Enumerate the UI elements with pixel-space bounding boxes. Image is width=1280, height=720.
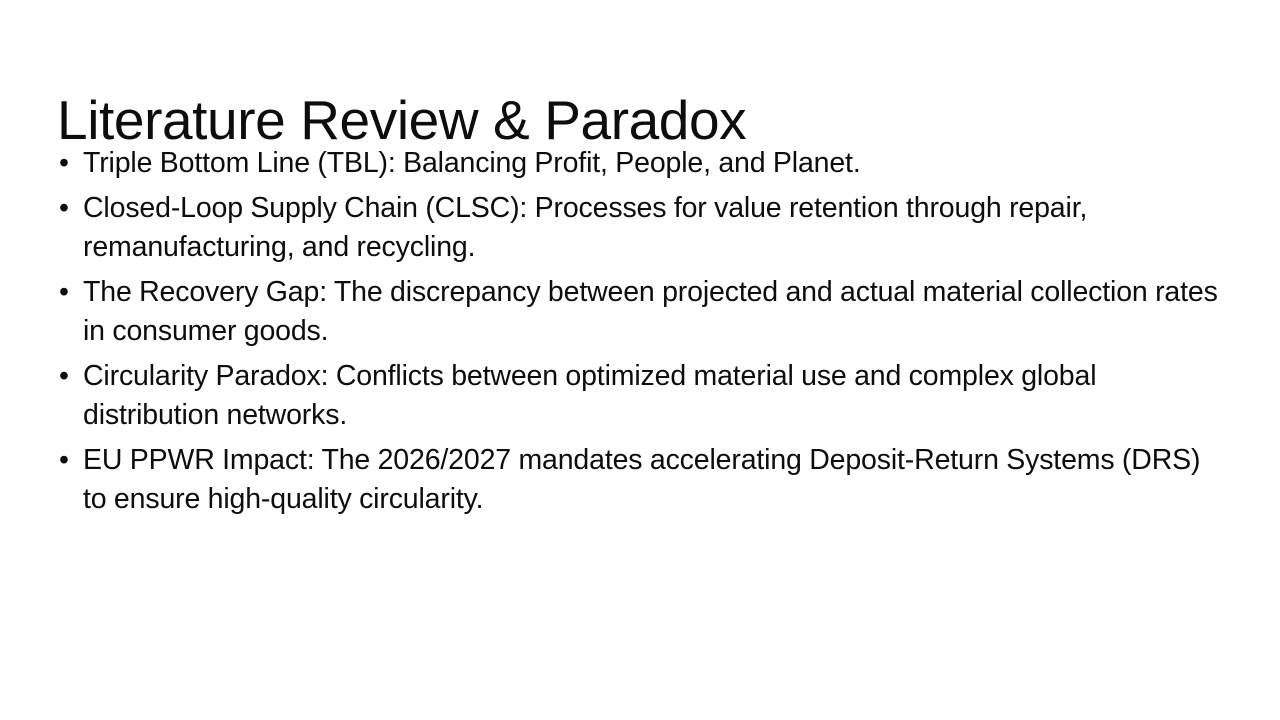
list-item-text: The Recovery Gap: The discrepancy betwee…: [83, 276, 1218, 348]
bullet-list: • Triple Bottom Line (TBL): Balancing Pr…: [57, 144, 1219, 520]
page-title: Literature Review & Paradox: [57, 87, 1227, 153]
list-item: • Triple Bottom Line (TBL): Balancing Pr…: [57, 144, 1219, 184]
bullet-dot-icon: •: [59, 441, 79, 481]
list-item: • Circularity Paradox: Conflicts between…: [57, 357, 1219, 436]
list-item-text: Triple Bottom Line (TBL): Balancing Prof…: [83, 147, 861, 179]
list-item-text: Circularity Paradox: Conflicts between o…: [83, 360, 1096, 432]
list-item-text: Closed-Loop Supply Chain (CLSC): Process…: [83, 192, 1087, 264]
bullet-dot-icon: •: [59, 357, 79, 397]
list-item: • EU PPWR Impact: The 2026/2027 mandates…: [57, 441, 1219, 520]
bullet-dot-icon: •: [59, 273, 79, 313]
list-item: • Closed-Loop Supply Chain (CLSC): Proce…: [57, 189, 1219, 268]
list-item-text: EU PPWR Impact: The 2026/2027 mandates a…: [83, 444, 1200, 516]
bullet-dot-icon: •: [59, 144, 79, 184]
bullet-dot-icon: •: [59, 189, 79, 229]
presentation-slide: Literature Review & Paradox • Triple Bot…: [0, 0, 1280, 720]
list-item: • The Recovery Gap: The discrepancy betw…: [57, 273, 1219, 352]
